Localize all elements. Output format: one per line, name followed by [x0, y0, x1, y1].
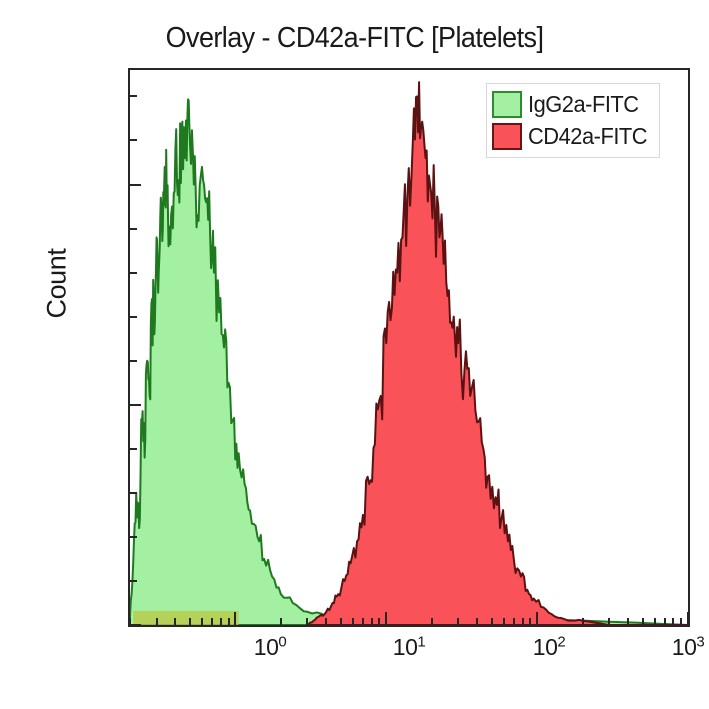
- x-tick-minor: [491, 618, 493, 625]
- y-tick-minor-20: [130, 536, 137, 538]
- x-tick-minor: [627, 618, 629, 625]
- x-tick-minor: [503, 618, 505, 625]
- x-tick-minor: [457, 618, 459, 625]
- y-tick-minor-110: [130, 139, 137, 141]
- legend-swatch-igg2a: [492, 91, 522, 118]
- x-tick-exponent-1e2: 2: [557, 633, 565, 650]
- x-tick-mantissa-1e1: 10: [393, 634, 418, 660]
- legend-swatch-cd42a: [492, 123, 522, 150]
- histogram-series-cd42a-fitc: [307, 82, 688, 625]
- x-tick-label-1e2: 102: [533, 634, 565, 661]
- x-tick-minor: [672, 618, 674, 625]
- x-tick-minor: [664, 618, 666, 625]
- x-tick-exponent-1e3: 3: [696, 633, 704, 650]
- x-tick-major-1e3: [687, 612, 689, 625]
- y-tick-minor-120: [130, 95, 137, 97]
- x-tick-mantissa-1e2: 10: [533, 634, 558, 660]
- x-tick-minor: [352, 618, 354, 625]
- x-tick-minor: [174, 618, 176, 625]
- x-tick-major-1e0: [234, 612, 236, 625]
- y-tick-minor-30: [130, 492, 137, 494]
- legend-item-igg2a[interactable]: IgG2a-FITC: [492, 88, 653, 120]
- y-tick-minor-40: [130, 448, 137, 450]
- x-tick-minor: [129, 618, 131, 625]
- y-tick-major-0: [130, 624, 141, 626]
- x-tick-minor: [654, 618, 656, 625]
- x-tick-minor: [340, 618, 342, 625]
- y-tick-minor-60: [130, 360, 137, 362]
- x-tick-label-1e3: 103: [672, 634, 704, 661]
- x-tick-minor: [325, 618, 327, 625]
- y-tick-minor-90: [130, 228, 137, 230]
- x-tick-minor: [189, 618, 191, 625]
- y-tick-minor-10: [130, 580, 137, 582]
- x-tick-minor: [680, 618, 682, 625]
- page-title: Overlay - CD42a-FITC [Platelets]: [25, 22, 684, 55]
- x-tick-minor: [362, 618, 364, 625]
- x-tick-minor: [642, 618, 644, 625]
- x-tick-exponent-1e0: 0: [278, 633, 286, 650]
- x-tick-minor: [211, 618, 213, 625]
- x-tick-minor: [371, 618, 373, 625]
- x-tick-minor: [513, 618, 515, 625]
- y-tick-major-50: [130, 404, 141, 406]
- legend: IgG2a-FITC CD42a-FITC: [486, 83, 660, 158]
- y-tick-minor-80: [130, 272, 137, 274]
- x-tick-exponent-1e1: 1: [417, 633, 425, 650]
- y-axis-label: Count: [42, 219, 73, 349]
- y-tick-major-100: [130, 184, 141, 186]
- y-tick-minor-70: [130, 316, 137, 318]
- x-tick-minor: [522, 618, 524, 625]
- x-tick-minor: [529, 618, 531, 625]
- x-tick-mantissa-1e0: 10: [254, 634, 279, 660]
- x-tick-minor: [608, 618, 610, 625]
- flow-cytometry-histogram-panel: Overlay - CD42a-FITC [Platelets] Count 1…: [0, 0, 709, 709]
- x-tick-minor: [306, 618, 308, 625]
- x-tick-label-1e0: 100: [254, 634, 286, 661]
- baseline-overlap-region: [133, 611, 238, 625]
- legend-label-igg2a: IgG2a-FITC: [528, 91, 639, 118]
- x-tick-minor: [431, 618, 433, 625]
- x-tick-minor: [378, 618, 380, 625]
- x-tick-mantissa-1e3: 10: [672, 634, 697, 660]
- x-tick-minor: [220, 618, 222, 625]
- x-tick-minor: [201, 618, 203, 625]
- x-tick-label-1e1: 101: [393, 634, 425, 661]
- x-tick-minor: [156, 618, 158, 625]
- legend-item-cd42a[interactable]: CD42a-FITC: [492, 120, 653, 152]
- x-tick-major-1e1: [385, 612, 387, 625]
- x-tick-minor: [582, 618, 584, 625]
- x-tick-minor: [228, 618, 230, 625]
- x-tick-minor: [280, 618, 282, 625]
- x-tick-minor: [476, 618, 478, 625]
- legend-label-cd42a: CD42a-FITC: [528, 123, 647, 150]
- x-tick-major-1e2: [536, 612, 538, 625]
